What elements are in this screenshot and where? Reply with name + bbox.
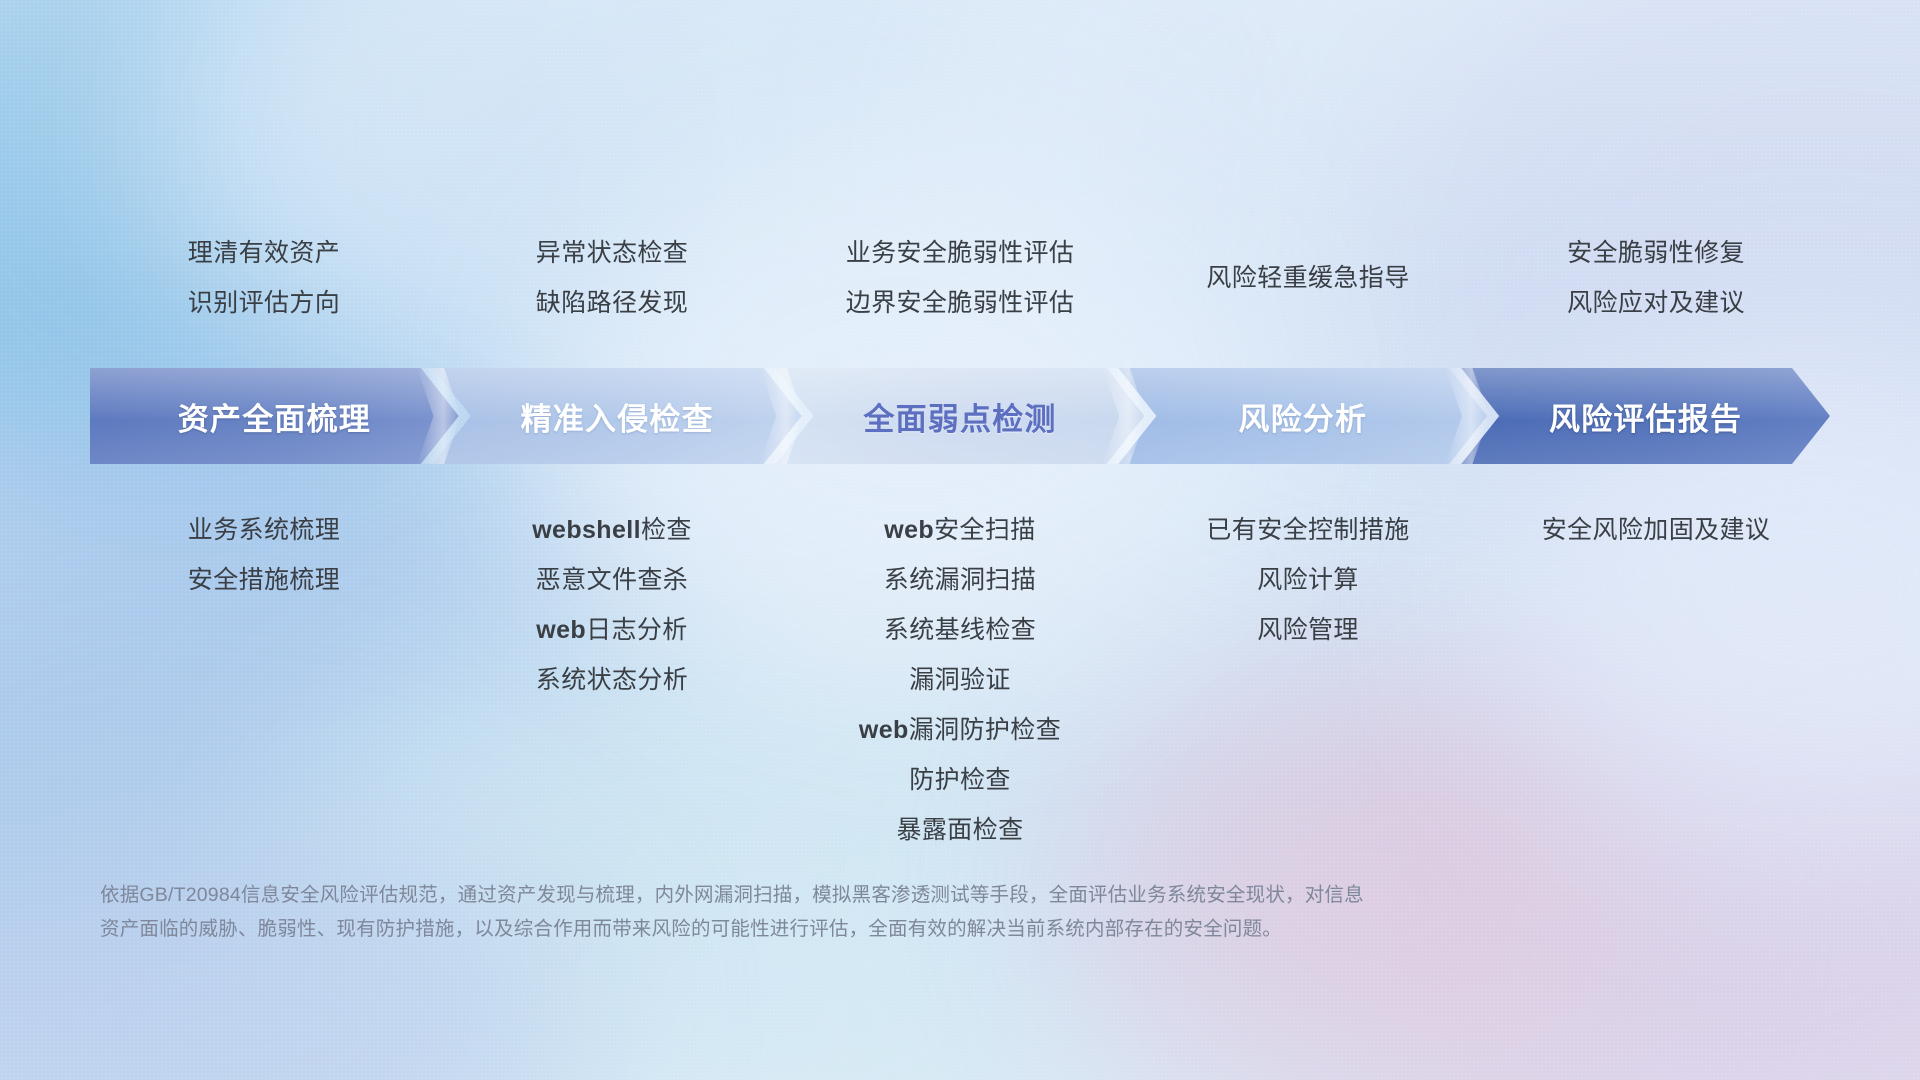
- stage-inputs-weakness-detection: 业务安全脆弱性评估边界安全脆弱性评估: [786, 228, 1134, 328]
- stage-activity-item: 安全措施梳理: [188, 555, 340, 605]
- stage-title: 风险评估报告: [1549, 394, 1742, 439]
- stage-activities-risk-assessment-report: 安全风险加固及建议: [1482, 505, 1830, 855]
- stage-activity-item: 已有安全控制措施: [1206, 505, 1409, 555]
- stage-chevron-intrusion-inspection[interactable]: 精准入侵检查: [433, 368, 802, 464]
- stage-activity-item: 安全风险加固及建议: [1542, 505, 1771, 555]
- stage-activities-weakness-detection: web安全扫描系统漏洞扫描系统基线检查漏洞验证web漏洞防护检查防护检查暴露面检…: [786, 505, 1134, 855]
- footnote-line-2: 资产面临的威胁、脆弱性、现有防护措施，以及综合作用而带来风险的可能性进行评估，全…: [100, 912, 1660, 946]
- activity-cjk-token: 系统基线检查: [884, 616, 1036, 644]
- stage-inputs-asset-inventory: 理清有效资产识别评估方向: [90, 228, 438, 328]
- stage-activities-risk-analysis: 已有安全控制措施风险计算风险管理: [1134, 505, 1482, 855]
- activity-latin-token: web: [536, 616, 586, 644]
- activity-cjk-token: 安全措施梳理: [188, 566, 340, 594]
- stage-input-item: 理清有效资产: [188, 228, 340, 278]
- stage-inputs-intrusion-inspection: 异常状态检查缺陷路径发现: [438, 228, 786, 328]
- activity-cjk-token: 恶意文件查杀: [536, 566, 688, 594]
- stage-activity-item: 暴露面检查: [896, 805, 1023, 855]
- activity-cjk-token: 日志分析: [586, 616, 688, 644]
- stage-title: 资产全面梳理: [178, 394, 371, 439]
- stage-activity-item: web日志分析: [536, 605, 687, 655]
- footnote-line-1: 依据GB/T20984信息安全风险评估规范，通过资产发现与梳理，内外网漏洞扫描，…: [100, 878, 1660, 912]
- stage-input-item: 边界安全脆弱性评估: [846, 278, 1075, 328]
- stage-input-item: 异常状态检查: [536, 228, 688, 278]
- stage-input-item: 业务安全脆弱性评估: [846, 228, 1075, 278]
- activity-cjk-token: 安全风险加固及建议: [1542, 516, 1771, 544]
- stage-title: 风险分析: [1238, 394, 1367, 439]
- activity-cjk-token: 风险计算: [1257, 566, 1359, 594]
- activity-cjk-token: 暴露面检查: [896, 816, 1023, 844]
- stage-activity-item: web漏洞防护检查: [859, 705, 1061, 755]
- stage-activities-intrusion-inspection: webshell检查恶意文件查杀web日志分析系统状态分析: [438, 505, 786, 855]
- activity-cjk-token: 风险管理: [1257, 616, 1359, 644]
- activity-cjk-token: 安全扫描: [934, 516, 1036, 544]
- stage-input-item: 缺陷路径发现: [536, 278, 688, 328]
- activity-cjk-token: 已有安全控制措施: [1206, 516, 1409, 544]
- stage-activity-item: 系统漏洞扫描: [884, 555, 1036, 605]
- stage-chevron-risk-analysis[interactable]: 风险分析: [1118, 368, 1487, 464]
- stage-activity-item: 恶意文件查杀: [536, 555, 688, 605]
- activity-cjk-token: 漏洞验证: [909, 666, 1011, 694]
- activity-cjk-token: 防护检查: [909, 766, 1011, 794]
- activity-cjk-token: 漏洞防护检查: [909, 716, 1061, 744]
- stage-inputs-risk-analysis: 风险轻重缓急指导: [1134, 228, 1482, 303]
- stage-chevron-asset-inventory[interactable]: 资产全面梳理: [90, 368, 459, 464]
- stage-chevron-risk-assessment-report[interactable]: 风险评估报告: [1461, 368, 1830, 464]
- stage-chevron-weakness-detection[interactable]: 全面弱点检测: [776, 368, 1145, 464]
- stage-input-item: 识别评估方向: [188, 278, 340, 328]
- stage-activity-item: 风险计算: [1257, 555, 1359, 605]
- stage-chevron-banner: 资产全面梳理精准入侵检查全面弱点检测风险分析风险评估报告: [90, 368, 1830, 464]
- stage-activities-asset-inventory: 业务系统梳理安全措施梳理: [90, 505, 438, 855]
- process-diagram: 理清有效资产识别评估方向异常状态检查缺陷路径发现业务安全脆弱性评估边界安全脆弱性…: [0, 0, 1920, 1080]
- stage-input-item: 风险轻重缓急指导: [1206, 253, 1409, 303]
- stage-activity-item: 防护检查: [909, 755, 1011, 805]
- stage-activity-item: 漏洞验证: [909, 655, 1011, 705]
- stage-activity-item: 风险管理: [1257, 605, 1359, 655]
- stage-inputs-risk-assessment-report: 安全脆弱性修复风险应对及建议: [1482, 228, 1830, 328]
- stage-activity-item: 系统基线检查: [884, 605, 1036, 655]
- footnote-paragraph: 依据GB/T20984信息安全风险评估规范，通过资产发现与梳理，内外网漏洞扫描，…: [100, 878, 1660, 946]
- stage-inputs-row: 理清有效资产识别评估方向异常状态检查缺陷路径发现业务安全脆弱性评估边界安全脆弱性…: [90, 228, 1830, 360]
- stage-activities-row: 业务系统梳理安全措施梳理webshell检查恶意文件查杀web日志分析系统状态分…: [90, 505, 1830, 855]
- stage-title: 全面弱点检测: [863, 394, 1056, 439]
- activity-latin-token: webshell: [532, 516, 641, 544]
- stage-activity-item: web安全扫描: [884, 505, 1035, 555]
- activity-cjk-token: 检查: [641, 516, 692, 544]
- stage-input-item: 安全脆弱性修复: [1567, 228, 1745, 278]
- activity-cjk-token: 业务系统梳理: [188, 516, 340, 544]
- activity-latin-token: web: [884, 516, 934, 544]
- activity-cjk-token: 系统漏洞扫描: [884, 566, 1036, 594]
- stage-activity-item: 业务系统梳理: [188, 505, 340, 555]
- activity-latin-token: web: [859, 716, 909, 744]
- activity-cjk-token: 系统状态分析: [536, 666, 688, 694]
- stage-input-item: 风险应对及建议: [1567, 278, 1745, 328]
- stage-activity-item: webshell检查: [532, 505, 692, 555]
- stage-title: 精准入侵检查: [521, 394, 714, 439]
- stage-activity-item: 系统状态分析: [536, 655, 688, 705]
